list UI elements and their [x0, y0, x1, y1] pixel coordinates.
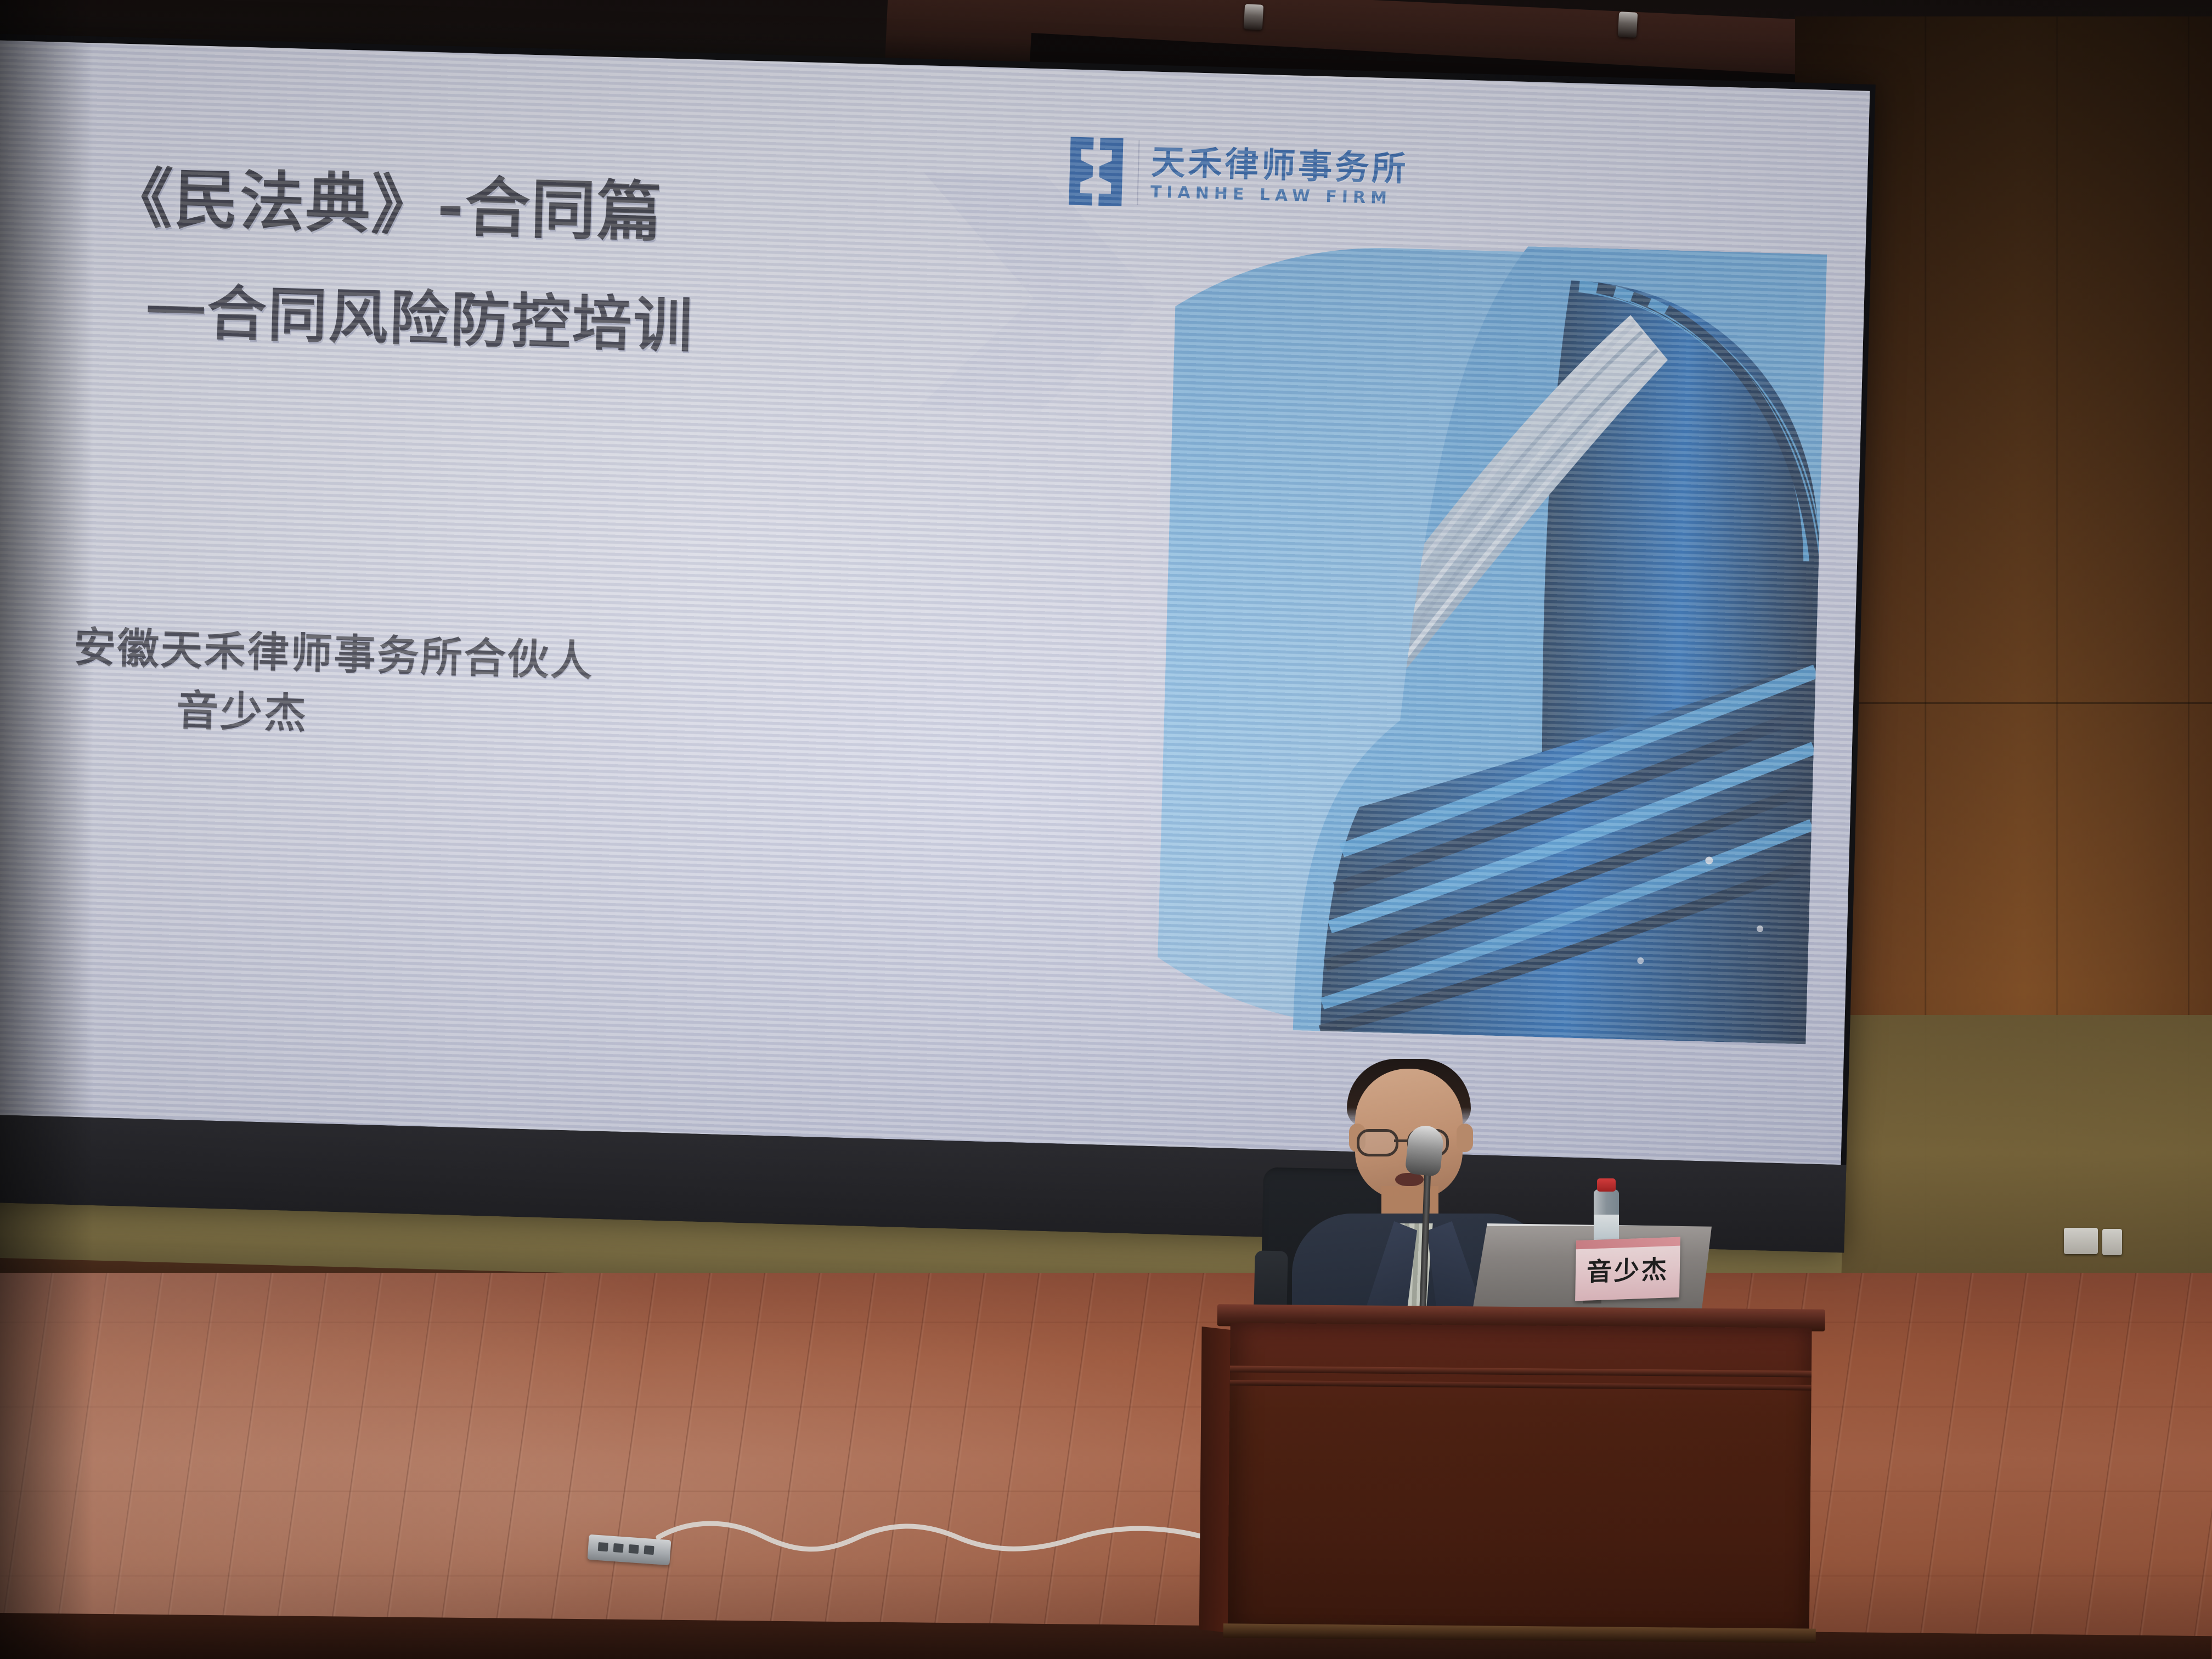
- ceiling-spotlight-icon: [1244, 4, 1263, 30]
- logo-divider: [1137, 140, 1139, 205]
- law-firm-logo: 天禾律师事务所 TIANHE LAW FIRM: [1065, 119, 1413, 232]
- podium-molding: [1230, 1365, 1812, 1377]
- wall-outlet-plate: [2064, 1228, 2098, 1254]
- eyeglasses-icon: [1357, 1129, 1398, 1156]
- logo-chinese-name: 天禾律师事务所: [1151, 145, 1409, 187]
- stage-floor: [0, 1273, 2212, 1659]
- eyeglasses-bridge: [1394, 1139, 1408, 1142]
- presenter-name: 音少杰: [176, 676, 309, 740]
- presentation-slide: 《民法典》-合同篇 一合同风险防控培训 安徽天禾律师事务所合伙人 音少杰 天禾律…: [0, 39, 1870, 1165]
- slide-title: 《民法典》-合同篇: [107, 145, 664, 253]
- led-screen: 《民法典》-合同篇 一合同风险防控培训 安徽天禾律师事务所合伙人 音少杰 天禾律…: [0, 33, 1876, 1252]
- wall-outlet-plate: [2102, 1229, 2122, 1255]
- slide-subtitle: 一合同风险防控培训: [145, 264, 696, 364]
- building-photo: [1156, 237, 1827, 1045]
- skyscraper-illustration: [1156, 237, 1827, 1045]
- presenter-org: 安徽天禾律师事务所合伙人: [73, 613, 595, 688]
- ceiling-spotlight-icon: [1618, 12, 1638, 38]
- podium-molding-lower: [1230, 1380, 1812, 1390]
- mouth: [1395, 1173, 1424, 1186]
- name-placard: 音少杰: [1575, 1237, 1680, 1301]
- bottle-cap: [1597, 1178, 1616, 1192]
- floor-light-reflection: [0, 1273, 878, 1659]
- logo-text-block: 天禾律师事务所 TIANHE LAW FIRM: [1150, 145, 1409, 208]
- photo-scene: 《民法典》-合同篇 一合同风险防控培训 安徽天禾律师事务所合伙人 音少杰 天禾律…: [0, 0, 2212, 1659]
- placard-name-text: 音少杰: [1586, 1249, 1669, 1288]
- podium-desk: [1227, 1318, 1812, 1659]
- ear: [1457, 1124, 1473, 1152]
- tianhe-h-emblem-icon: [1065, 134, 1127, 208]
- podium-front-panel: [1228, 1323, 1812, 1635]
- bottle-label: [1594, 1215, 1619, 1239]
- podium-left-side: [1199, 1327, 1233, 1633]
